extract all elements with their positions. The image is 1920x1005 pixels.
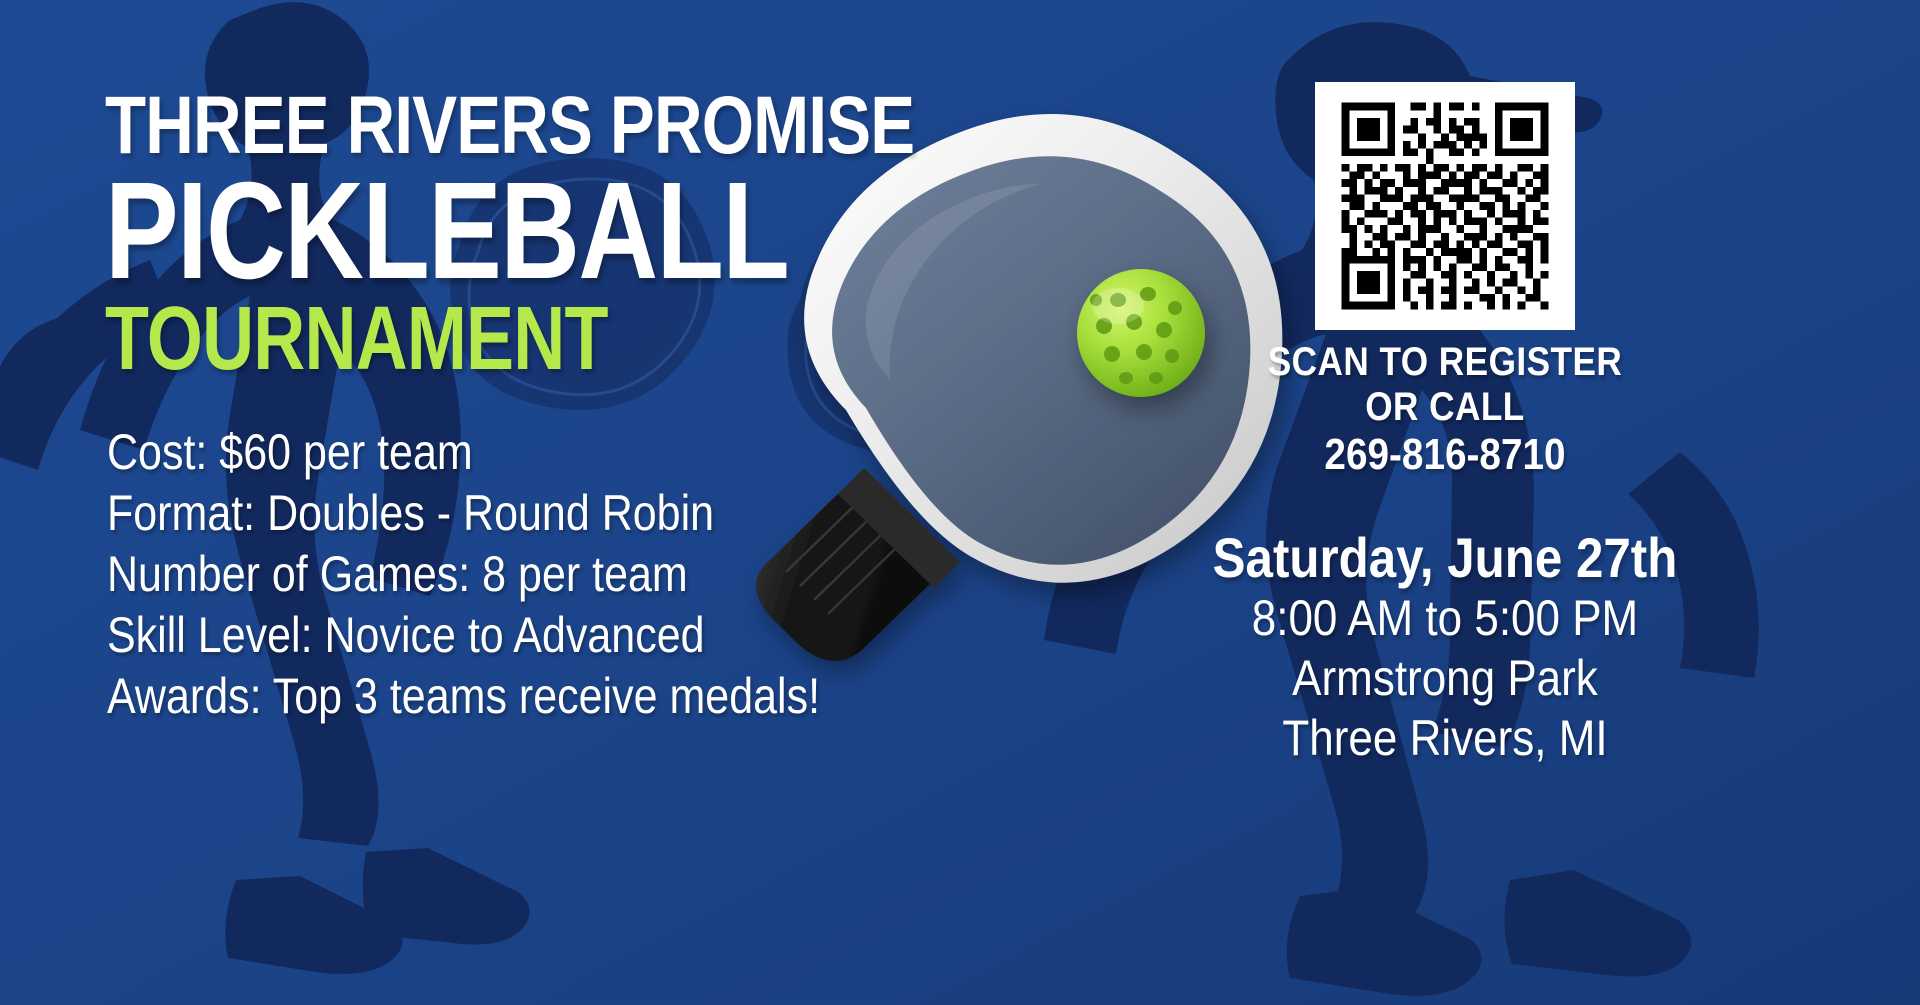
event-date: Saturday, June 27th xyxy=(1097,527,1792,589)
headline-line-2: PICKLEBALL xyxy=(105,169,745,293)
headline-line-1: THREE RIVERS PROMISE xyxy=(105,88,761,163)
qr-code-matrix xyxy=(1328,95,1562,317)
registration-and-event-column: SCAN TO REGISTER OR CALL 269-816-8710 Sa… xyxy=(1050,82,1840,768)
detail-skill-level: Skill Level: Novice to Advanced xyxy=(107,605,793,666)
detail-awards: Awards: Top 3 teams receive medals! xyxy=(107,666,793,727)
phone-number[interactable]: 269-816-8710 xyxy=(1097,430,1792,479)
event-time: 8:00 AM to 5:00 PM xyxy=(1097,588,1792,648)
registration-instructions: SCAN TO REGISTER OR CALL 269-816-8710 xyxy=(1050,340,1840,479)
or-call-label: OR CALL xyxy=(1097,385,1792,430)
scan-to-register-label: SCAN TO REGISTER xyxy=(1097,340,1792,385)
headline-and-details-column: THREE RIVERS PROMISE PICKLEBALL TOURNAME… xyxy=(105,88,905,727)
qr-code[interactable] xyxy=(1315,82,1575,330)
detail-cost: Cost: $60 per team xyxy=(107,422,793,483)
headline-line-3: TOURNAMENT xyxy=(105,298,745,381)
detail-format: Format: Doubles - Round Robin xyxy=(107,483,793,544)
tournament-details-list: Cost: $60 per team Format: Doubles - Rou… xyxy=(107,422,905,727)
event-city: Three Rivers, MI xyxy=(1097,708,1792,768)
event-venue: Armstrong Park xyxy=(1097,648,1792,708)
detail-number-of-games: Number of Games: 8 per team xyxy=(107,544,793,605)
flyer-canvas: THREE RIVERS PROMISE PICKLEBALL TOURNAME… xyxy=(0,0,1920,1005)
event-info-block: Saturday, June 27th 8:00 AM to 5:00 PM A… xyxy=(1050,527,1840,769)
